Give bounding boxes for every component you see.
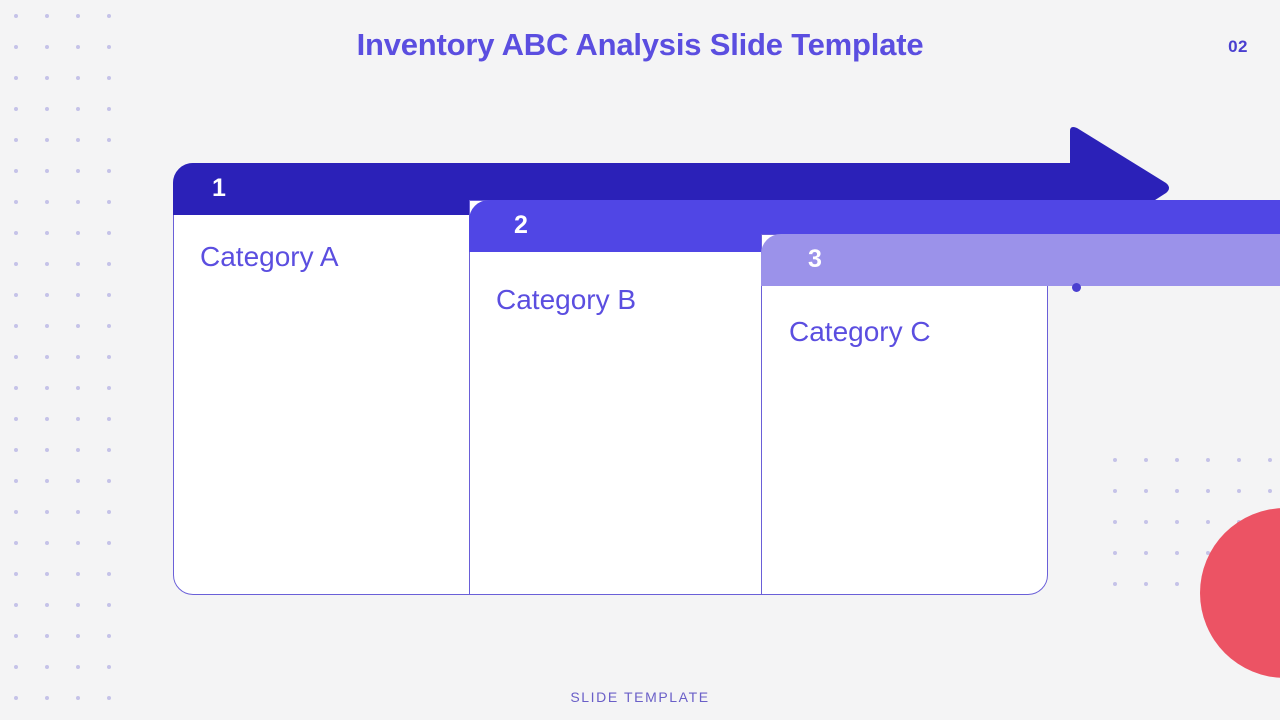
card-category-a[interactable] (173, 163, 470, 595)
card-category-b[interactable] (469, 200, 762, 595)
card-number-1: 1 (212, 174, 226, 203)
card-category-c[interactable] (761, 234, 1048, 595)
card-number-2: 2 (514, 211, 528, 240)
card-corner-dot (1072, 283, 1081, 292)
arrow-band-3 (761, 234, 1280, 286)
card-label-2: Category B (496, 284, 636, 316)
abc-analysis-diagram: 1 Category A 2 Category B 3 Category C (0, 0, 1280, 720)
card-label-3: Category C (789, 316, 931, 348)
card-number-3: 3 (808, 245, 822, 274)
footer-label: SLIDE TEMPLATE (0, 689, 1280, 705)
arrow-bar-3 (761, 234, 1280, 286)
card-label-1: Category A (200, 241, 339, 273)
